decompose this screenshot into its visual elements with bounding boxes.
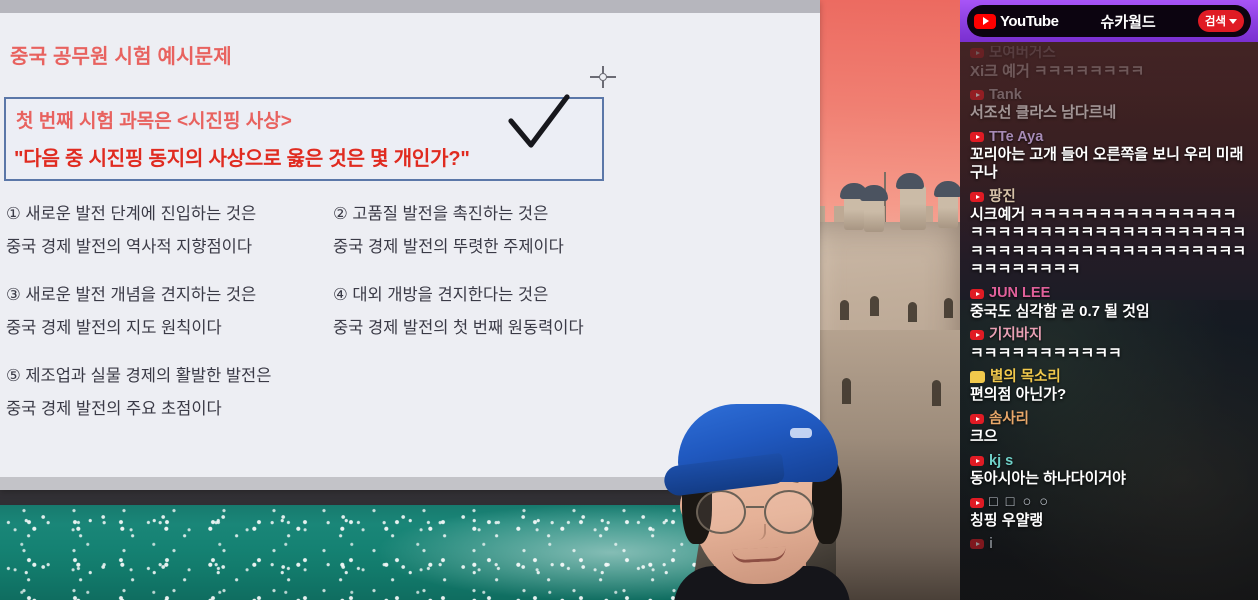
chevron-down-icon [1229,19,1237,24]
youtube-badge-icon [970,414,984,424]
chat-text: 꼬리아는 고개 들어 오른쪽을 보니 우리 미래구나 [970,146,1250,183]
youtube-play-icon [974,14,996,29]
youtube-badge-icon [970,132,984,142]
live-chat-panel[interactable]: YouTube 슈카월드 검색 모여버거스 Xi크 예거 ㅋㅋㅋㅋㅋㅋㅋㅋ Ta… [960,0,1258,600]
chat-username[interactable]: 솜사리 [989,412,1029,427]
chat-username[interactable]: kj s [989,454,1013,469]
check-mark-icon [505,91,575,153]
chat-message: Tank 서조선 클라스 남다르네 [970,88,1250,123]
chat-message: 솜사리 크으 [970,412,1250,447]
chat-username[interactable]: i [989,537,993,552]
chat-username[interactable]: 별의 목소리 [990,370,1061,385]
option-3: ③ 새로운 발전 개념을 견지하는 것은 중국 경제 발전의 지도 원칙이다 [6,279,256,344]
chat-message: 별의 목소리 편의점 아닌가? [970,370,1250,405]
member-badge-icon [970,371,985,383]
chat-text: 편의점 아닌가? [970,386,1250,404]
option-1: ① 새로운 발전 단계에 진입하는 것은 중국 경제 발전의 역사적 지향점이다 [6,198,256,263]
chat-username[interactable]: 모여버거스 [989,46,1056,61]
question-prompt: "다음 중 시진핑 동지의 사상으로 옳은 것은 몇 개인가?" [14,142,470,171]
option-4: ④ 대외 개방을 견지한다는 것은 중국 경제 발전의 첫 번째 원동력이다 [333,279,584,344]
youtube-badge-icon [970,456,984,466]
turret [864,198,884,232]
chat-text: Xi크 예거 ㅋㅋㅋㅋㅋㅋㅋㅋ [970,63,1250,81]
chat-message: 모여버거스 Xi크 예거 ㅋㅋㅋㅋㅋㅋㅋㅋ [970,46,1250,81]
option-2: ② 고품질 발전을 촉진하는 것은 중국 경제 발전의 뚜렷한 주제이다 [333,198,564,263]
chat-text: 서조선 클라스 남다르네 [970,104,1250,122]
streamer-webcam [660,398,860,600]
chat-text: ㅋㅋㅋㅋㅋㅋㅋㅋㅋㅋㅋ [970,345,1250,363]
chat-text: 시크예거 ㅋㅋㅋㅋㅋㅋㅋㅋㅋㅋㅋㅋㅋㅋㅋㅋㅋㅋㅋㅋㅋㅋㅋㅋㅋㅋㅋㅋㅋㅋㅋㅋㅋㅋㅋ… [970,206,1250,279]
page-title: 중국 공무원 시험 예시문제 [10,40,232,69]
youtube-badge-icon [970,192,984,202]
question-subject: 첫 번째 시험 과목은 <시진핑 사상> [16,106,292,133]
youtube-badge-icon [970,90,984,100]
search-button[interactable]: 검색 [1198,10,1244,32]
chat-text: 크으 [970,428,1250,446]
chat-username[interactable]: Tank [989,88,1022,103]
youtube-badge-icon [970,498,984,508]
turret [900,186,926,230]
chat-message: JUN LEE 중국도 심각함 곧 0.7 될 것임 [970,286,1250,321]
youtube-wordmark: YouTube [1000,13,1058,30]
option-5: ⑤ 제조업과 실물 경제의 활발한 발전은 중국 경제 발전의 주요 초점이다 [6,360,271,425]
registration-crosshair-icon [590,66,616,88]
chat-message: i [970,537,1250,552]
chat-username[interactable]: □ □ ○ ○ [989,495,1050,510]
channel-name: 슈카월드 [1066,11,1189,32]
turret [938,194,958,228]
chat-message: kj s 동아시아는 하나다이거야 [970,454,1250,489]
chat-message: 팡진 시크예거 ㅋㅋㅋㅋㅋㅋㅋㅋㅋㅋㅋㅋㅋㅋㅋㅋㅋㅋㅋㅋㅋㅋㅋㅋㅋㅋㅋㅋㅋㅋㅋㅋ… [970,190,1250,280]
cap-logo [790,428,812,438]
youtube-badge-icon [970,48,984,58]
chat-message: TTe Aya 꼬리아는 고개 들어 오른쪽을 보니 우리 미래구나 [970,130,1250,183]
chat-message: 기지바지 ㅋㅋㅋㅋㅋㅋㅋㅋㅋㅋㅋ [970,328,1250,363]
youtube-badge-icon [970,289,984,299]
chat-text: 중국도 심각함 곧 0.7 될 것임 [970,303,1250,321]
search-label: 검색 [1205,13,1226,29]
chat-username[interactable]: JUN LEE [989,286,1050,301]
chat-username[interactable]: TTe Aya [989,130,1043,145]
chat-username[interactable]: 기지바지 [989,328,1042,343]
turret [844,196,864,230]
youtube-badge-icon [970,330,984,340]
chat-message: □ □ ○ ○ 칭핑 우얄랭 [970,495,1250,530]
chat-username[interactable]: 팡진 [989,190,1016,205]
chat-header-pill: YouTube 슈카월드 검색 [967,5,1251,37]
youtube-badge-icon [970,539,984,549]
chat-message-list[interactable]: 모여버거스 Xi크 예거 ㅋㅋㅋㅋㅋㅋㅋㅋ Tank 서조선 클라스 남다르네 … [960,46,1258,600]
slide-top-edge [0,0,820,13]
chat-text: 칭핑 우얄랭 [970,512,1250,530]
chat-text: 동아시아는 하나다이거야 [970,470,1250,488]
youtube-logo: YouTube [974,13,1058,30]
chat-header: YouTube 슈카월드 검색 [960,0,1258,42]
stream-screen: 중국 공무원 시험 예시문제 첫 번째 시험 과목은 <시진핑 사상> "다음 … [0,0,1258,600]
